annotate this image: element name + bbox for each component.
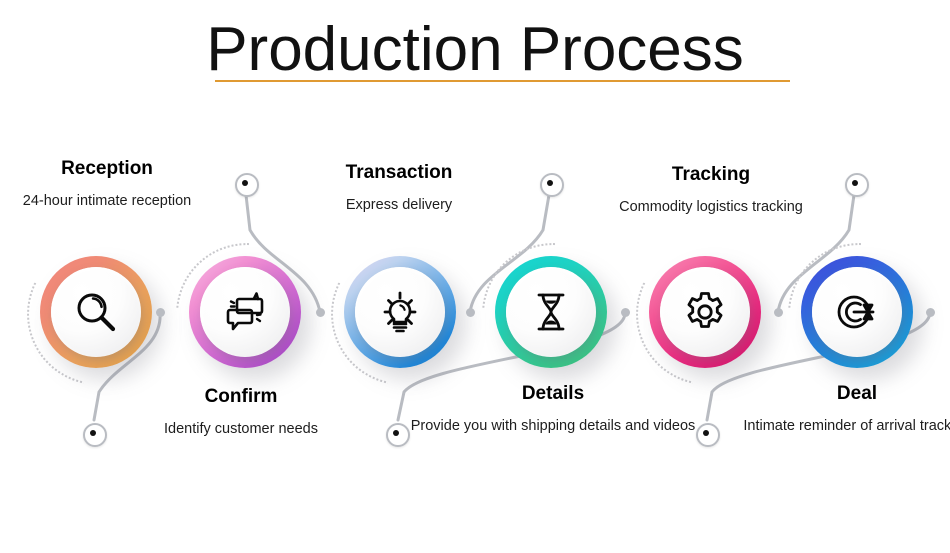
step-desc-confirm: Identify customer needs [164,420,318,438]
step-title-transaction: Transaction [346,162,453,184]
step-marker-details[interactable] [386,423,410,447]
step-title-deal: Deal [743,383,950,405]
page-title-wrap: Production Process [0,16,950,88]
step-ring-tracking [649,256,761,368]
step-title-tracking: Tracking [619,164,803,186]
step-label-reception: Reception 24-hour intimate reception [23,158,191,210]
connector-anchor-tracking [774,308,783,317]
step-ring-transaction [344,256,456,368]
connector-anchor-deal [926,308,935,317]
connector-anchor-transaction [466,308,475,317]
step-marker-confirm[interactable] [235,173,259,197]
infographic-canvas: Production Process [0,0,950,553]
step-label-confirm: Confirm Identify customer needs [164,386,318,438]
connector-anchor-details [621,308,630,317]
step-ring-confirm [189,256,301,368]
step-marker-transaction[interactable] [540,173,564,197]
step-title-details: Details [411,383,696,405]
title-underline [215,80,790,82]
page-title: Production Process [200,16,750,88]
step-marker-deal[interactable] [696,423,720,447]
step-label-tracking: Tracking Commodity logistics tracking [619,164,803,216]
connector-anchor-reception [156,308,165,317]
step-desc-transaction: Express delivery [346,196,453,214]
step-label-transaction: Transaction Express delivery [346,162,453,214]
step-ring-details [495,256,607,368]
step-marker-reception[interactable] [83,423,107,447]
step-desc-reception: 24-hour intimate reception [23,192,191,210]
step-title-reception: Reception [23,158,191,180]
step-ring-deal [801,256,913,368]
step-marker-tracking[interactable] [845,173,869,197]
step-label-deal: Deal Intimate reminder of arrival tracki… [743,383,950,435]
step-label-details: Details Provide you with shipping detail… [411,383,696,435]
step-desc-tracking: Commodity logistics tracking [619,198,803,216]
connector-anchor-confirm [316,308,325,317]
step-ring-reception [40,256,152,368]
step-desc-details: Provide you with shipping details and vi… [411,417,696,435]
step-desc-deal: Intimate reminder of arrival tracking [743,417,950,435]
step-title-confirm: Confirm [164,386,318,408]
